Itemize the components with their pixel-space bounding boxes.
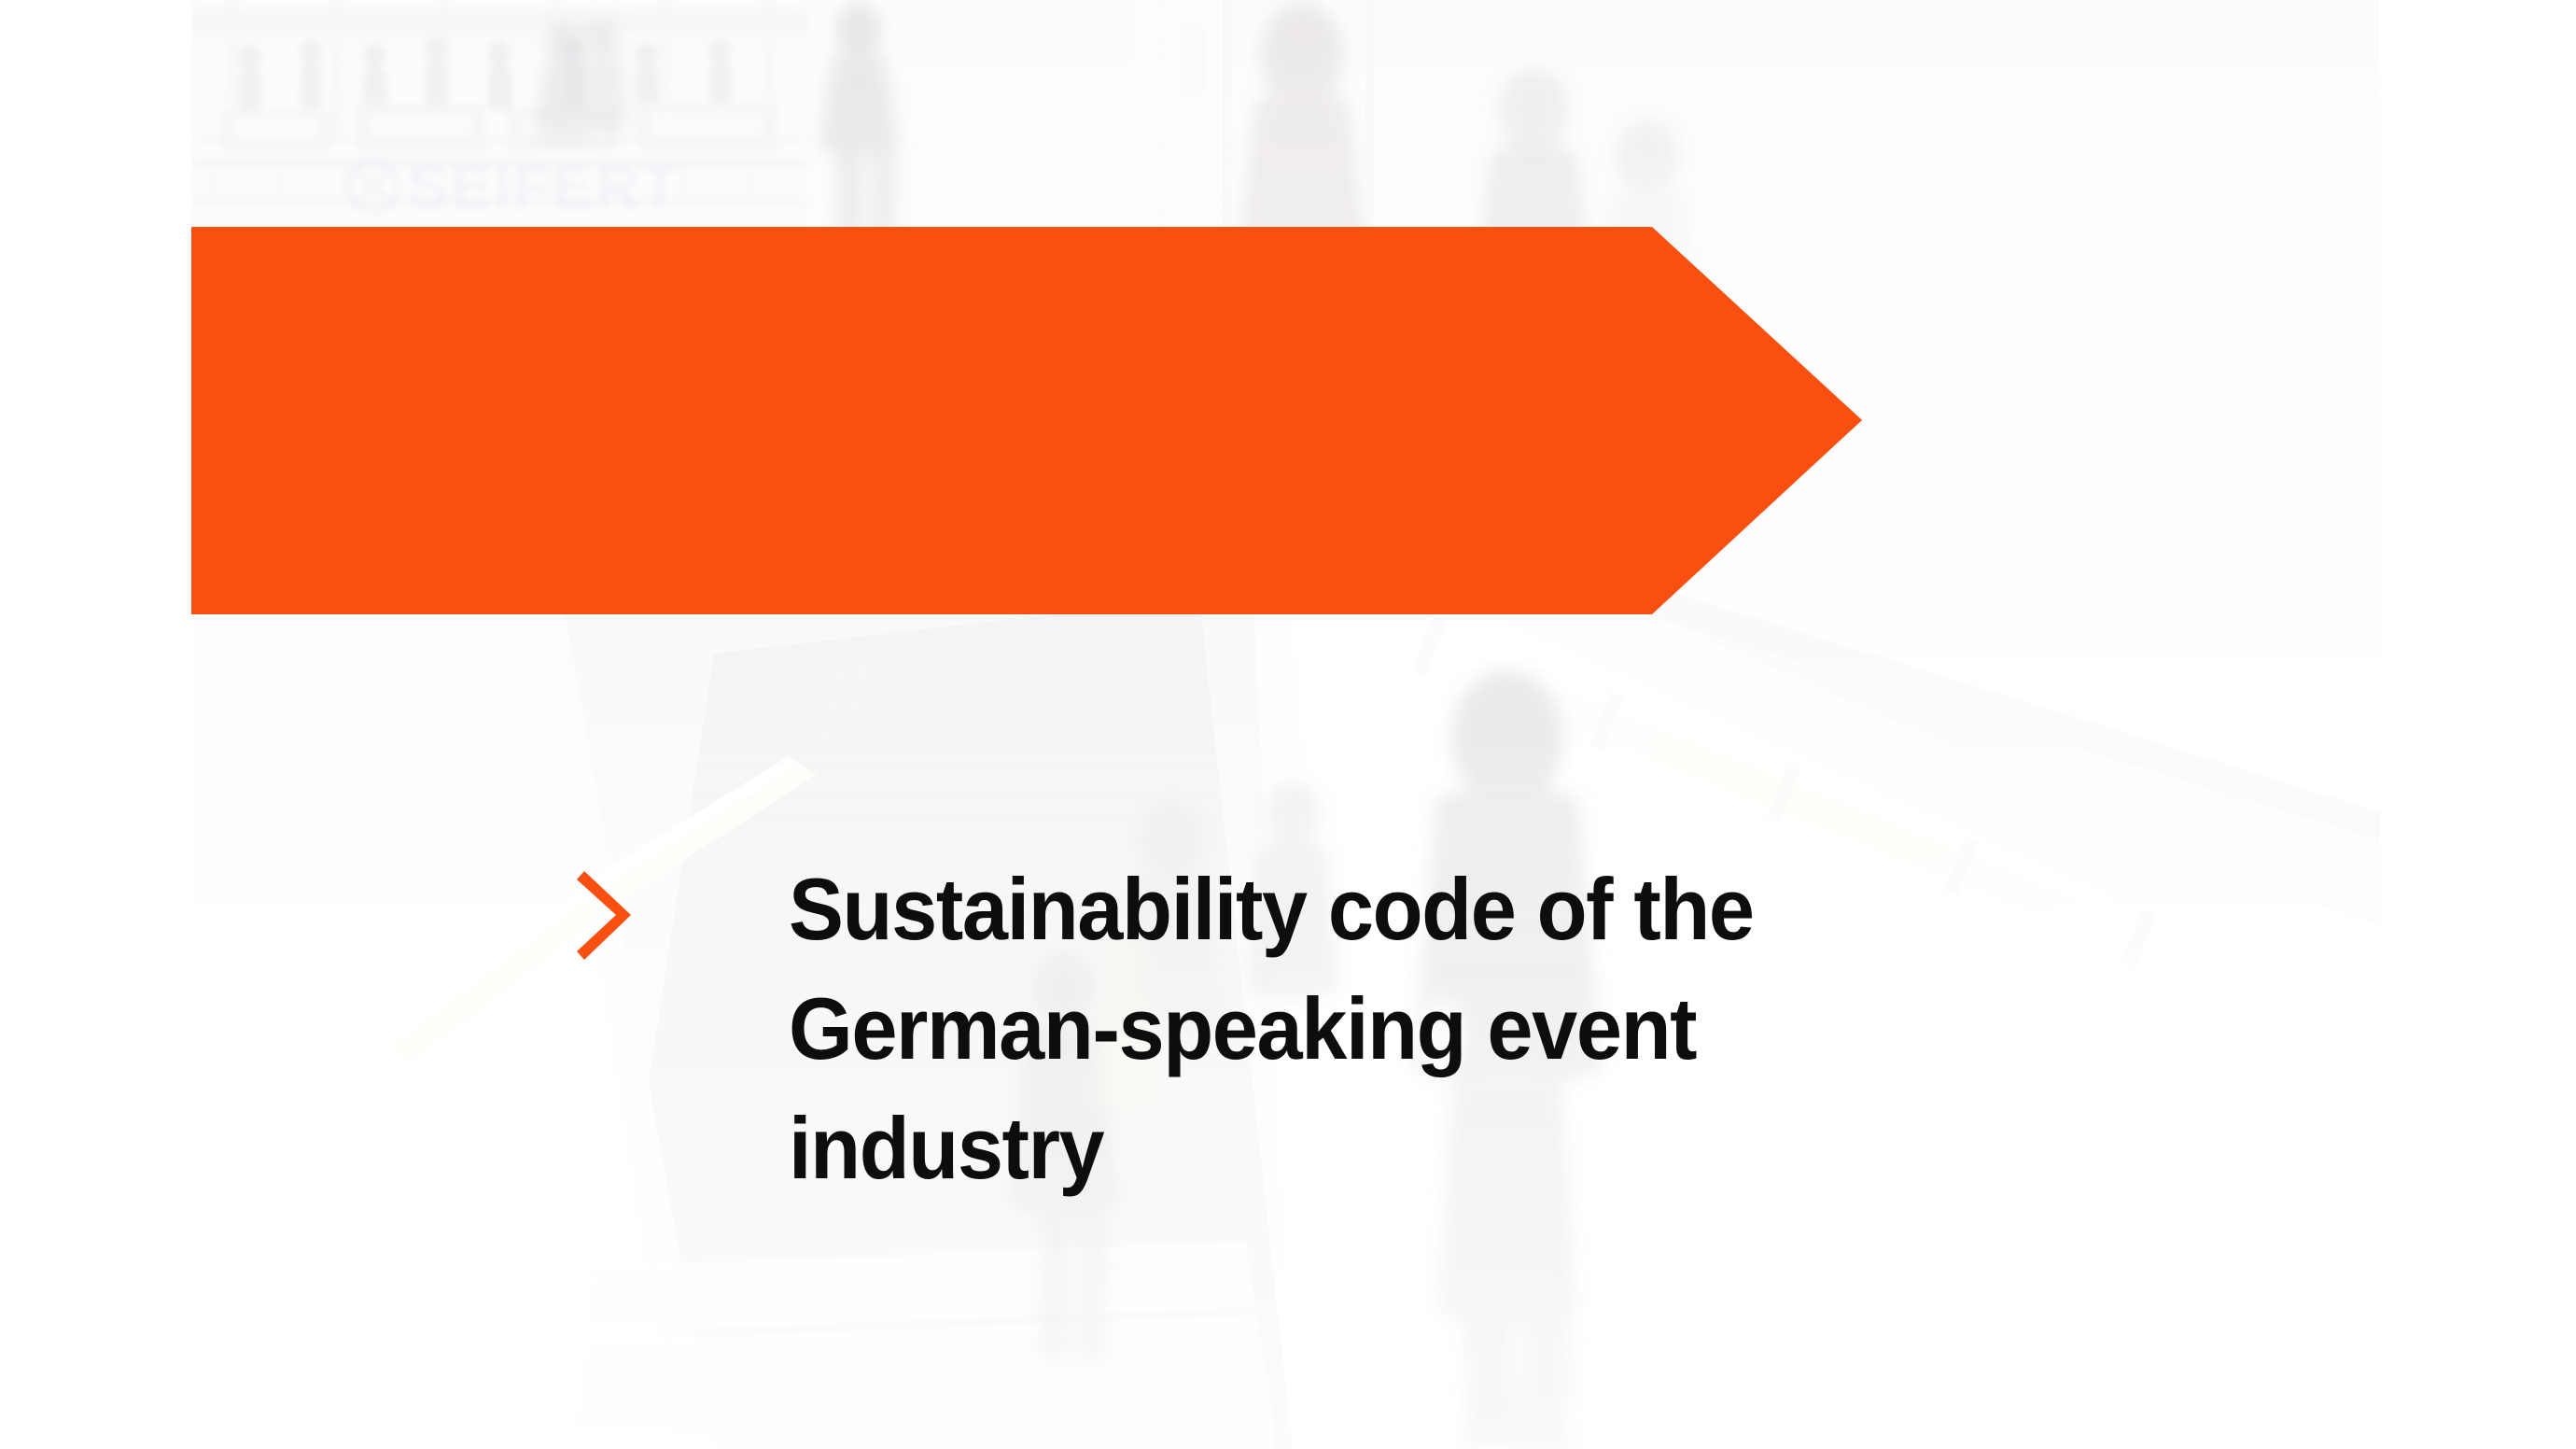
- hero-chevron-detached: [1442, 227, 1862, 614]
- chevron-right-icon: [577, 871, 642, 960]
- slide-canvas: SEIFERT: [0, 0, 2576, 1449]
- page-title: Sustainability code of the German-speaki…: [789, 850, 2189, 1208]
- page-title-line-3: industry: [789, 1089, 2105, 1208]
- page-title-line-2: German-speaking event: [789, 969, 2105, 1089]
- page-title-line-1: Sustainability code of the: [789, 850, 2105, 969]
- background-photograph: SEIFERT: [191, 0, 2380, 1449]
